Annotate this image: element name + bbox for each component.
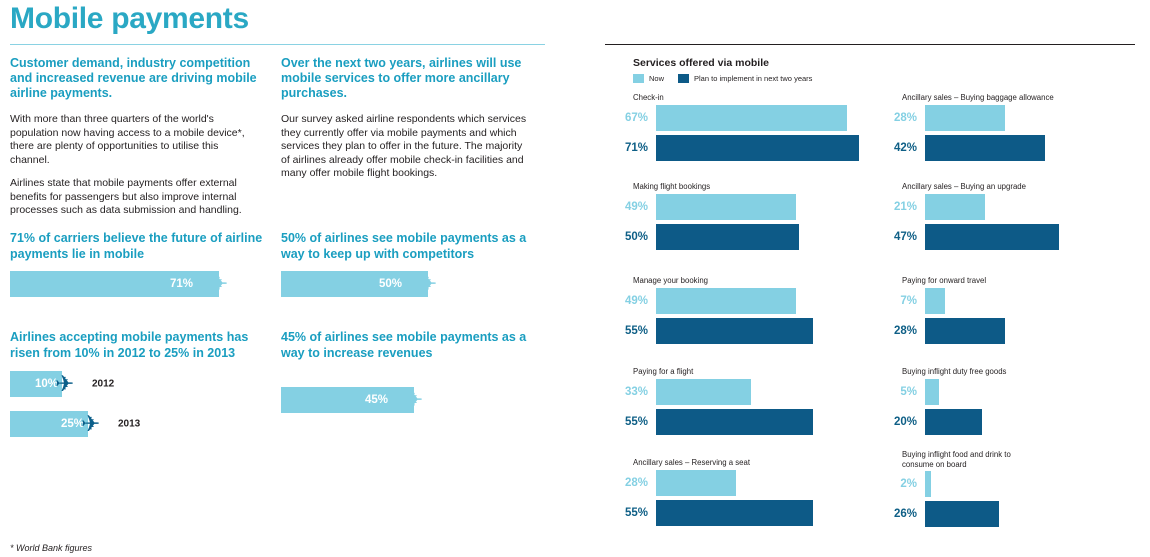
chart-group-label: Buying inflight duty free goods (902, 367, 1006, 377)
chart-bar-plan (925, 409, 982, 435)
chart-row-value: 26% (862, 508, 925, 520)
divider-right (605, 44, 1135, 45)
chart-group-label: Manage your booking (633, 276, 813, 286)
chart-row-value: 55% (608, 325, 656, 337)
chart-bar-now (656, 105, 847, 131)
text-column-1: Customer demand, industry competition an… (10, 56, 260, 228)
chart-row-plan: 26% (862, 501, 1022, 527)
chart-bar-plan (925, 224, 1059, 250)
chart-row-now: 2% (862, 471, 1022, 497)
chart-row-plan: 55% (608, 409, 813, 435)
airplane-icon: ✈ (418, 273, 437, 296)
chart-row-now: 49% (608, 288, 813, 314)
page-title: Mobile payments (10, 2, 249, 36)
stat-block-keep-up-competitors: 50% of airlines see mobile payments as a… (281, 231, 543, 297)
chart-row-plan: 42% (862, 135, 1054, 161)
chart-row-value: 50% (608, 231, 656, 243)
chart-row-value: 55% (608, 507, 656, 519)
legend-swatch-plan (678, 74, 689, 83)
stat-heading: 50% of airlines see mobile payments as a… (281, 231, 543, 262)
chart-row-value: 28% (862, 325, 925, 337)
chart-bar-now (656, 379, 751, 405)
stat-bar-71: 71% (10, 271, 219, 297)
chart-group-onward-travel: Paying for onward travel 7% 28% (862, 276, 1005, 348)
legend-label-plan: Plan to implement in next two years (694, 74, 812, 83)
chart-bar-plan (656, 135, 859, 161)
column1-paragraph-1: With more than three quarters of the wor… (10, 113, 260, 167)
airplane-icon: ✈ (55, 373, 74, 396)
airplane-icon: ✈ (404, 389, 423, 412)
airplane-icon: ✈ (209, 273, 228, 296)
airplane-icon: ✈ (81, 413, 100, 436)
chart-group-label: Making flight bookings (633, 182, 799, 192)
chart-row-now: 28% (862, 105, 1054, 131)
chart-row-value: 55% (608, 416, 656, 428)
legend-swatch-now (633, 74, 644, 83)
chart-row-now: 33% (608, 379, 813, 405)
chart-bar-now (925, 194, 985, 220)
chart-row-value: 7% (862, 295, 925, 307)
stat-bar-45: 45% (281, 387, 414, 413)
chart-row-value: 2% (862, 478, 925, 490)
chart-group-label: Paying for a flight (633, 367, 813, 377)
stat-heading: Airlines accepting mobile payments has r… (10, 330, 272, 361)
chart-bar-plan (656, 409, 813, 435)
chart-bar-plan (656, 318, 813, 344)
chart-title: Services offered via mobile (633, 57, 769, 69)
stat-bar-25: 25% (10, 411, 88, 437)
chart-row-value: 28% (608, 477, 656, 489)
chart-group-label: Check-in (633, 93, 859, 103)
stat-bar-50: 50% (281, 271, 428, 297)
chart-row-now: 67% (608, 105, 859, 131)
text-column-2: Over the next two years, airlines will u… (281, 56, 531, 191)
chart-bar-now (925, 471, 931, 497)
chart-row-value: 67% (608, 112, 656, 124)
chart-bar-plan (656, 500, 813, 526)
chart-group-label: Ancillary sales – Buying baggage allowan… (902, 93, 1054, 103)
chart-row-now: 49% (608, 194, 799, 220)
column1-lead: Customer demand, industry competition an… (10, 56, 260, 101)
chart-bar-now (656, 288, 796, 314)
chart-row-plan: 50% (608, 224, 799, 250)
chart-row-value: 71% (608, 142, 656, 154)
chart-row-plan: 71% (608, 135, 859, 161)
chart-bar-plan (925, 318, 1005, 344)
chart-row-value: 5% (862, 386, 925, 398)
chart-group-paying-for-a-flight: Paying for a flight 33% 55% (608, 367, 813, 439)
chart-legend: Now Plan to implement in next two years (633, 74, 821, 83)
chart-bar-now (656, 194, 796, 220)
chart-group-label: Buying inflight food and drink to consum… (902, 450, 1022, 469)
footnote: * World Bank figures (10, 543, 92, 553)
chart-row-now: 21% (862, 194, 1059, 220)
stat-block-adoption-growth: Airlines accepting mobile payments has r… (10, 330, 272, 437)
chart-row-now: 5% (862, 379, 1006, 405)
stat-block-future-of-payments: 71% of carriers believe the future of ai… (10, 231, 272, 297)
column2-paragraph-1: Our survey asked airline respondents whi… (281, 113, 531, 181)
stat-heading: 45% of airlines see mobile payments as a… (281, 330, 543, 361)
chart-bar-now (925, 105, 1005, 131)
stat-bar-year-label: 2012 (92, 379, 114, 390)
chart-row-value: 20% (862, 416, 925, 428)
chart-row-value: 33% (608, 386, 656, 398)
chart-group-label: Paying for onward travel (902, 276, 1005, 286)
chart-row-value: 47% (862, 231, 925, 243)
chart-bar-plan (925, 135, 1045, 161)
chart-bar-plan (656, 224, 799, 250)
chart-row-value: 42% (862, 142, 925, 154)
chart-row-now: 7% (862, 288, 1005, 314)
chart-group-buying-an-upgrade: Ancillary sales – Buying an upgrade 21% … (862, 182, 1059, 254)
column2-lead: Over the next two years, airlines will u… (281, 56, 531, 101)
chart-row-plan: 28% (862, 318, 1005, 344)
chart-group-label: Ancillary sales – Buying an upgrade (902, 182, 1059, 192)
column1-paragraph-2: Airlines state that mobile payments offe… (10, 177, 260, 218)
chart-group-reserving-a-seat: Ancillary sales – Reserving a seat 28% 5… (608, 458, 813, 530)
legend-label-now: Now (649, 74, 664, 83)
chart-row-now: 28% (608, 470, 813, 496)
chart-group-inflight-food-and-drink: Buying inflight food and drink to consum… (862, 450, 1022, 531)
chart-row-plan: 20% (862, 409, 1006, 435)
infographic-page: Mobile payments Customer demand, industr… (0, 0, 1150, 557)
chart-row-plan: 55% (608, 500, 813, 526)
stat-heading: 71% of carriers believe the future of ai… (10, 231, 272, 262)
chart-group-baggage-allowance: Ancillary sales – Buying baggage allowan… (862, 93, 1054, 165)
divider-left (10, 44, 545, 45)
chart-group-duty-free-goods: Buying inflight duty free goods 5% 20% (862, 367, 1006, 439)
chart-bar-plan (925, 501, 999, 527)
stat-block-increase-revenues: 45% of airlines see mobile payments as a… (281, 330, 543, 413)
chart-row-value: 49% (608, 295, 656, 307)
chart-row-value: 21% (862, 201, 925, 213)
chart-row-plan: 47% (862, 224, 1059, 250)
chart-group-check-in: Check-in 67% 71% (608, 93, 859, 165)
chart-group-label: Ancillary sales – Reserving a seat (633, 458, 813, 468)
chart-group-making-flight-bookings: Making flight bookings 49% 50% (608, 182, 799, 254)
chart-bar-now (925, 288, 945, 314)
chart-row-plan: 55% (608, 318, 813, 344)
chart-row-value: 49% (608, 201, 656, 213)
chart-group-manage-your-booking: Manage your booking 49% 55% (608, 276, 813, 348)
chart-bar-now (925, 379, 939, 405)
stat-bar-year-label: 2013 (118, 419, 140, 430)
chart-row-value: 28% (862, 112, 925, 124)
chart-bar-now (656, 470, 736, 496)
